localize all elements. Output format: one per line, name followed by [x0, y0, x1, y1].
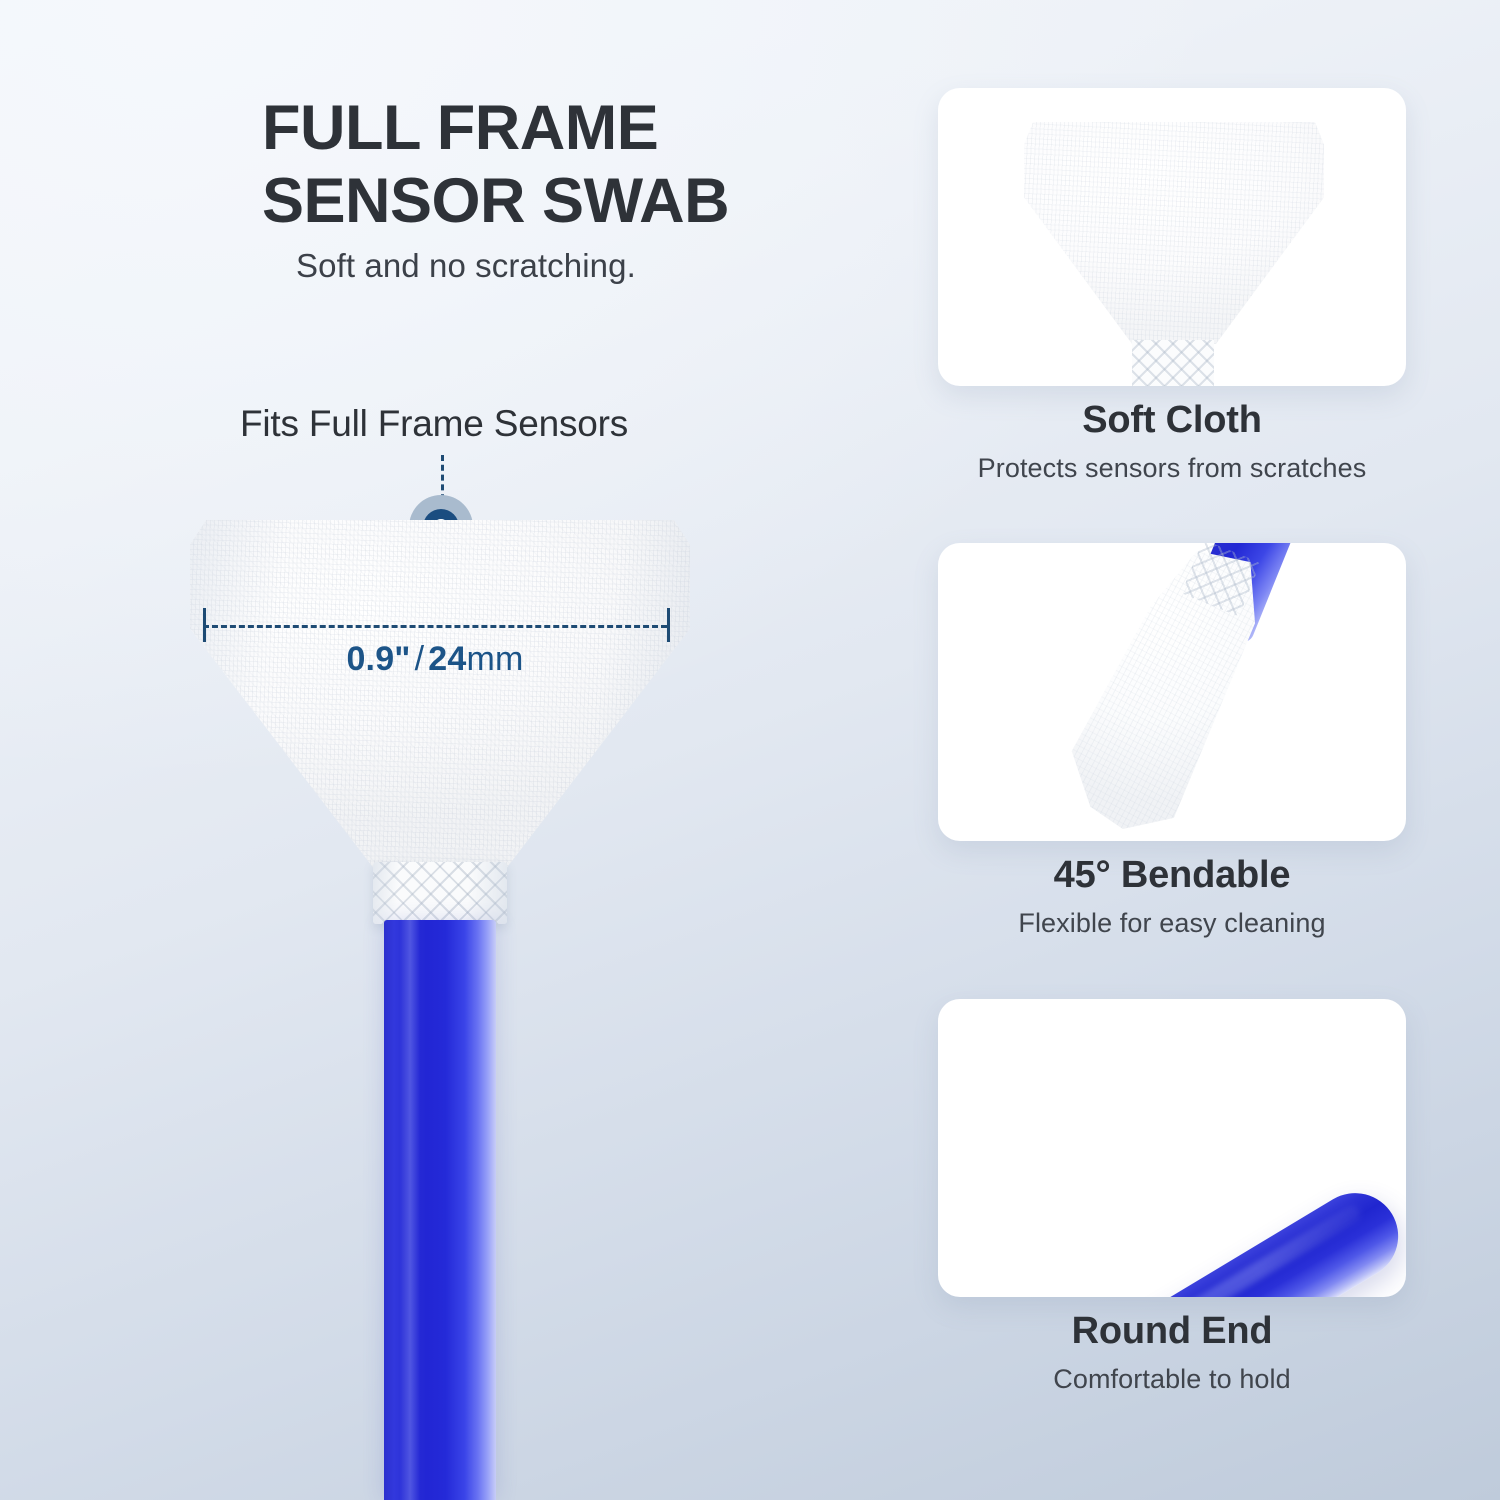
product-infographic: FULL FRAME SENSOR SWAB Soft and no scrat… [0, 0, 1500, 1500]
feature-subtitle: Protects sensors from scratches [938, 453, 1406, 484]
headline-line-2: SENSOR SWAB [262, 165, 882, 238]
headline-subtitle: Soft and no scratching. [296, 247, 636, 285]
feature-card-soft-cloth [938, 88, 1406, 386]
dimension-inches: 0.9" [346, 640, 410, 678]
feature-card-bendable [938, 543, 1406, 841]
feature-caption-bendable: 45° Bendable Flexible for easy cleaning [938, 855, 1406, 939]
feature-title: Soft Cloth [938, 400, 1406, 442]
feature-subtitle: Flexible for easy cleaning [938, 908, 1406, 939]
feature-subtitle: Comfortable to hold [938, 1364, 1406, 1395]
card-artwork-wrap [938, 543, 1406, 841]
dimension-unit: mm [467, 640, 524, 678]
card-artwork-round-end-handle [993, 1177, 1406, 1297]
feature-card-round-end [938, 999, 1406, 1297]
dimension-separator: / [415, 640, 425, 678]
swab-head-shading [190, 520, 690, 870]
fits-sensors-label: Fits Full Frame Sensors [240, 403, 628, 445]
swab-head [190, 520, 690, 870]
dimension-line [203, 625, 667, 628]
feature-caption-round-end: Round End Comfortable to hold [938, 1311, 1406, 1395]
feature-title: Round End [938, 1311, 1406, 1353]
dimension-tick-right [667, 608, 670, 642]
headline-block: FULL FRAME SENSOR SWAB [262, 92, 882, 238]
card-artwork-mesh-collar [1132, 340, 1214, 386]
feature-caption-soft-cloth: Soft Cloth Protects sensors from scratch… [938, 400, 1406, 484]
headline-line-1: FULL FRAME [262, 92, 882, 165]
handle-gloss-highlight [400, 920, 420, 1500]
swab-mesh-collar [373, 862, 507, 924]
feature-title: 45° Bendable [938, 855, 1406, 897]
dimension-millimeters: 24 [428, 640, 466, 678]
swab-blue-handle [384, 920, 496, 1500]
card-artwork-swab-head-straight [1024, 122, 1324, 344]
dimension-label: 0.9"/24mm [203, 640, 667, 679]
